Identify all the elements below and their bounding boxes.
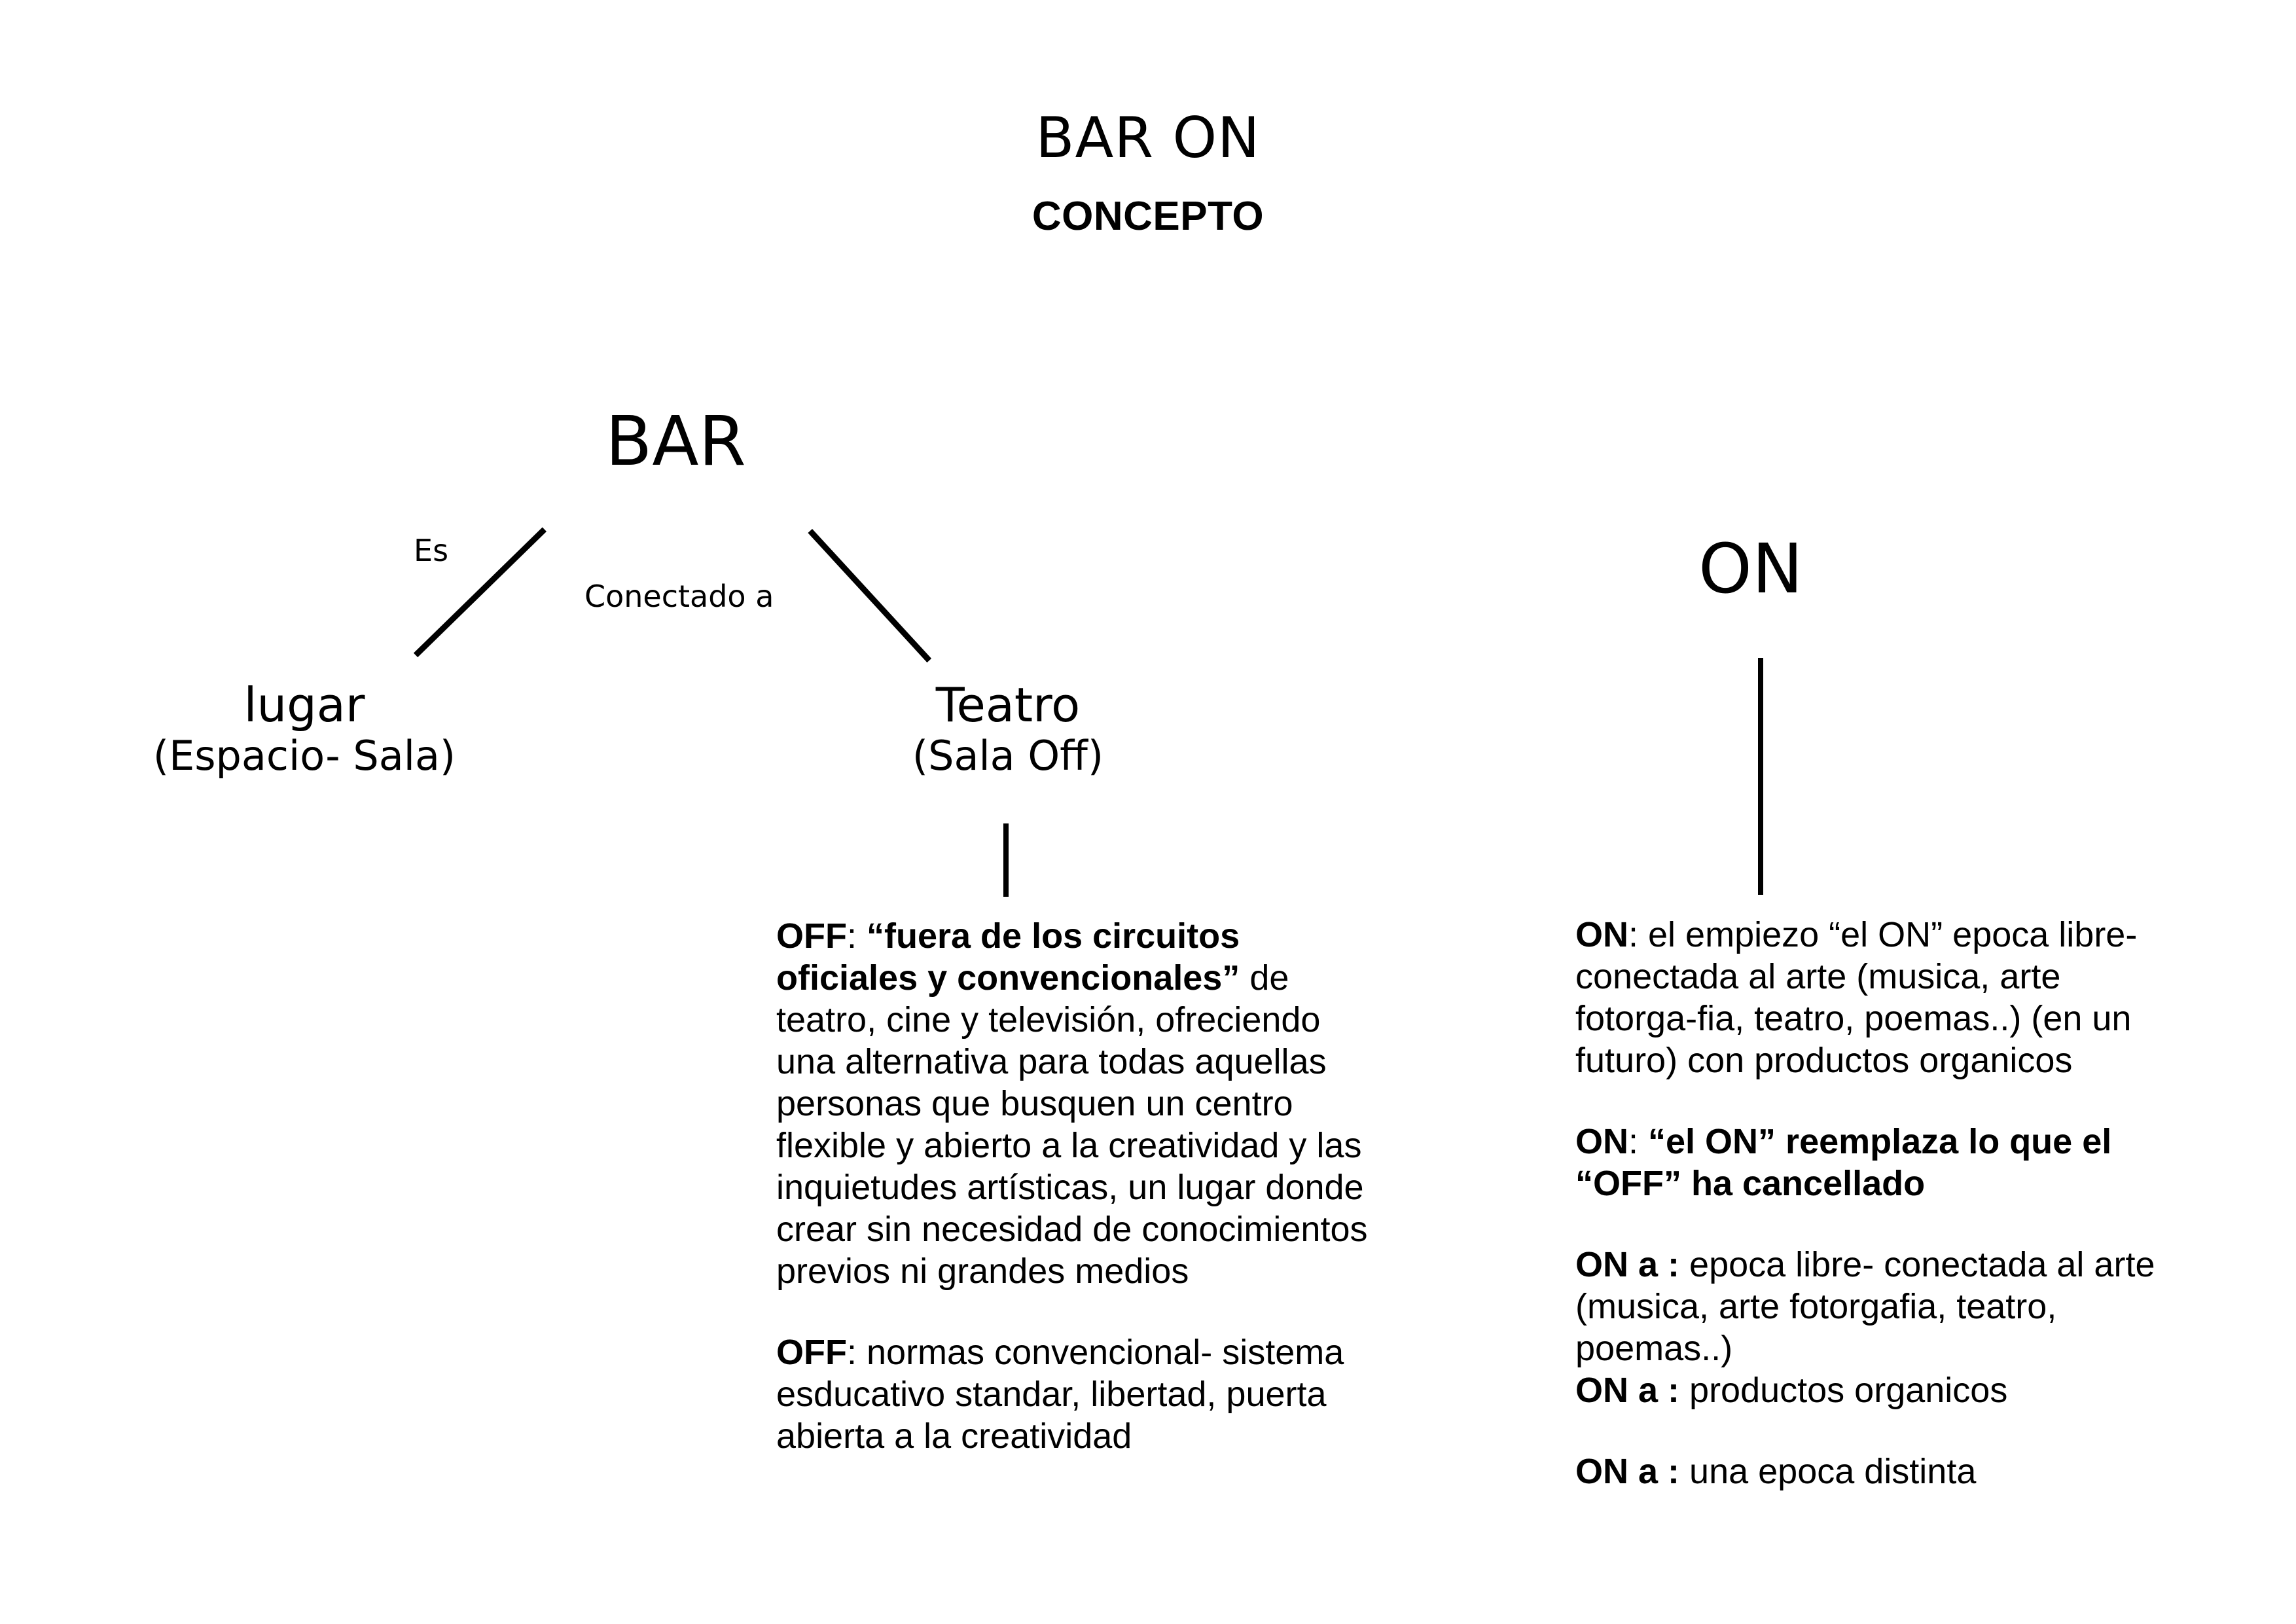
node-bar: BAR — [605, 406, 746, 477]
node-teatro: Teatro (Sala Off) — [870, 681, 1145, 777]
on-paragraph-5: ON a : una epoca distinta — [1575, 1451, 2191, 1492]
on-paragraph-2: ON: “el ON” reemplaza lo que el “OFF” ha… — [1575, 1121, 2191, 1204]
on-p3-lead: ON a : — [1575, 1245, 1679, 1284]
on-paragraph-1: ON: el empiezo “el ON” epoca libre-conec… — [1575, 914, 2191, 1081]
on-p5-rest: una epoca distinta — [1679, 1452, 1976, 1491]
on-p1-rest: el empiezo “el ON” epoca libre-conectada… — [1575, 915, 2137, 1080]
node-on: ON — [1698, 533, 1803, 605]
off-paragraph-1: OFF: “fuera de los circuitos oficiales y… — [776, 915, 1378, 1292]
concept-map-page: BAR ON CONCEPTO BAR ON lugar (Espacio- S… — [0, 0, 2296, 1624]
off-p2-lead: OFF — [776, 1333, 847, 1372]
on-p2-lead: ON — [1575, 1122, 1628, 1161]
connector-bar-to-teatro — [808, 529, 931, 662]
connector-on-to-on-notes — [1758, 658, 1763, 895]
connector-teatro-to-off-notes — [1003, 823, 1009, 897]
node-teatro-label: Teatro — [936, 677, 1080, 732]
on-p2-rest: “el ON” reemplaza lo que el “OFF” ha can… — [1575, 1122, 2111, 1203]
on-p1-colon: : — [1628, 915, 1648, 954]
on-p1-lead: ON — [1575, 915, 1628, 954]
page-subtitle: CONCEPTO — [0, 196, 2296, 237]
edge-label-conectado-a: Conectado a — [584, 581, 774, 611]
page-title: BAR ON — [0, 110, 2296, 166]
on-notes-column: ON: el empiezo “el ON” epoca libre-conec… — [1575, 914, 2191, 1492]
edge-label-es: Es — [414, 535, 448, 566]
node-teatro-sublabel: (Sala Off) — [870, 734, 1145, 777]
off-p1-rest: de teatro, cine y televisión, ofreciendo… — [776, 958, 1368, 1291]
on-p2-colon: : — [1628, 1122, 1648, 1161]
node-lugar-sublabel: (Espacio- Sala) — [151, 734, 458, 777]
off-notes-column: OFF: “fuera de los circuitos oficiales y… — [776, 915, 1378, 1457]
on-p5-lead: ON a : — [1575, 1452, 1679, 1491]
node-lugar: lugar (Espacio- Sala) — [151, 681, 458, 777]
off-p2-colon: : — [847, 1333, 867, 1372]
off-paragraph-2: OFF: normas convencional- sistema esduca… — [776, 1331, 1378, 1457]
on-paragraph-4: ON a : productos organicos — [1575, 1369, 2191, 1411]
off-p1-colon: : — [847, 916, 867, 956]
on-paragraph-3: ON a : epoca libre- conectada al arte (m… — [1575, 1244, 2191, 1369]
on-p4-rest: productos organicos — [1679, 1371, 2007, 1410]
on-p4-lead: ON a : — [1575, 1371, 1679, 1410]
off-p1-lead: OFF — [776, 916, 847, 956]
node-lugar-label: lugar — [243, 677, 365, 732]
